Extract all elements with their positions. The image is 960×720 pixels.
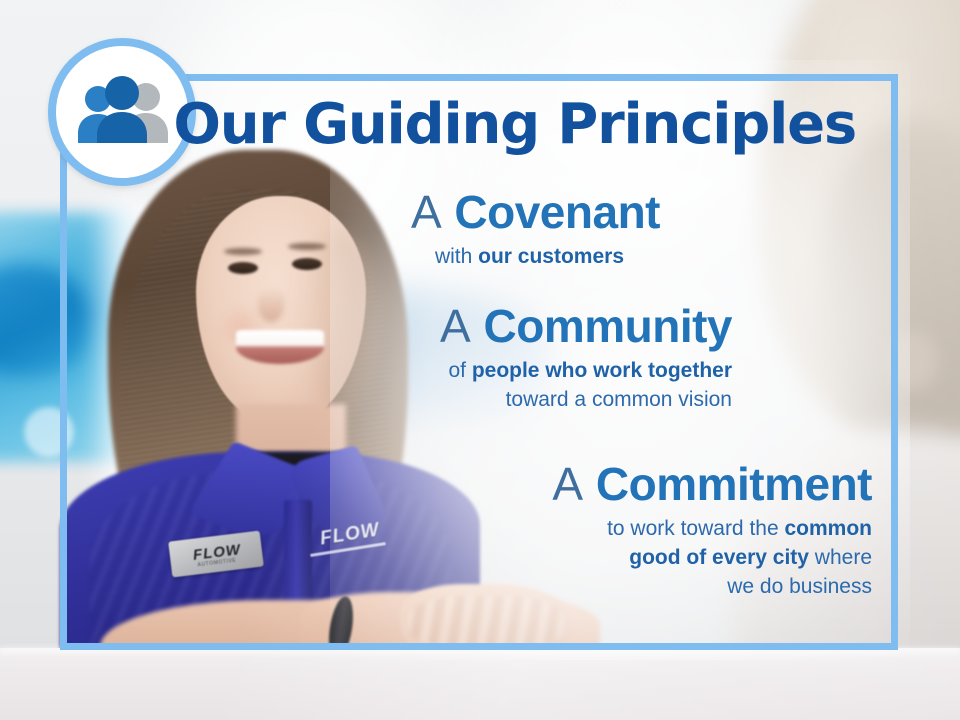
white-table-surface — [0, 648, 960, 720]
principle-community-subtext: of people who work together toward a com… — [0, 357, 732, 415]
commitment-article: A — [552, 458, 583, 510]
community-word: Community — [484, 300, 733, 352]
principle-commitment-subtext: to work toward the common good of every … — [0, 515, 872, 602]
covenant-word: Covenant — [454, 186, 660, 238]
principle-covenant-subtext: with our customers — [0, 243, 660, 272]
community-subline-1: of people who work together — [0, 357, 732, 386]
table-edge-highlight — [0, 648, 960, 656]
commitment-word: Commitment — [596, 458, 872, 510]
principle-commitment: A Commitment to work toward the common g… — [0, 460, 872, 602]
principle-covenant: A Covenant with our customers — [0, 188, 660, 272]
covenant-subline-1: with our customers — [0, 243, 624, 272]
commitment-subline-3: we do business — [0, 573, 872, 602]
community-subline-2: toward a common vision — [0, 386, 732, 415]
guiding-principles-graphic: FLOW AUTOMOTIVE FLOW — [0, 0, 960, 720]
employee-fingers — [408, 596, 564, 650]
commitment-sub-1a: to work toward the — [607, 517, 784, 540]
commitment-subline-2: good of every city where — [0, 544, 872, 573]
covenant-sub-1b: our customers — [478, 245, 624, 268]
community-sub-1b: people who work together — [472, 359, 732, 382]
page-title: Our Guiding Principles — [0, 96, 896, 154]
principle-covenant-heading: A Covenant — [0, 188, 660, 237]
customer-ear — [890, 330, 938, 390]
principle-commitment-heading: A Commitment — [0, 460, 872, 509]
principle-community-heading: A Community — [0, 302, 732, 351]
commitment-sub-2a: good of every city — [629, 546, 809, 569]
principle-community: A Community of people who work together … — [0, 302, 732, 415]
commitment-subline-1: to work toward the common — [0, 515, 872, 544]
community-sub-1a: of — [448, 359, 471, 382]
community-article: A — [440, 300, 471, 352]
covenant-article: A — [411, 186, 442, 238]
covenant-sub-1a: with — [435, 245, 478, 268]
commitment-sub-1b: common — [784, 517, 872, 540]
commitment-sub-2b: where — [809, 546, 872, 569]
